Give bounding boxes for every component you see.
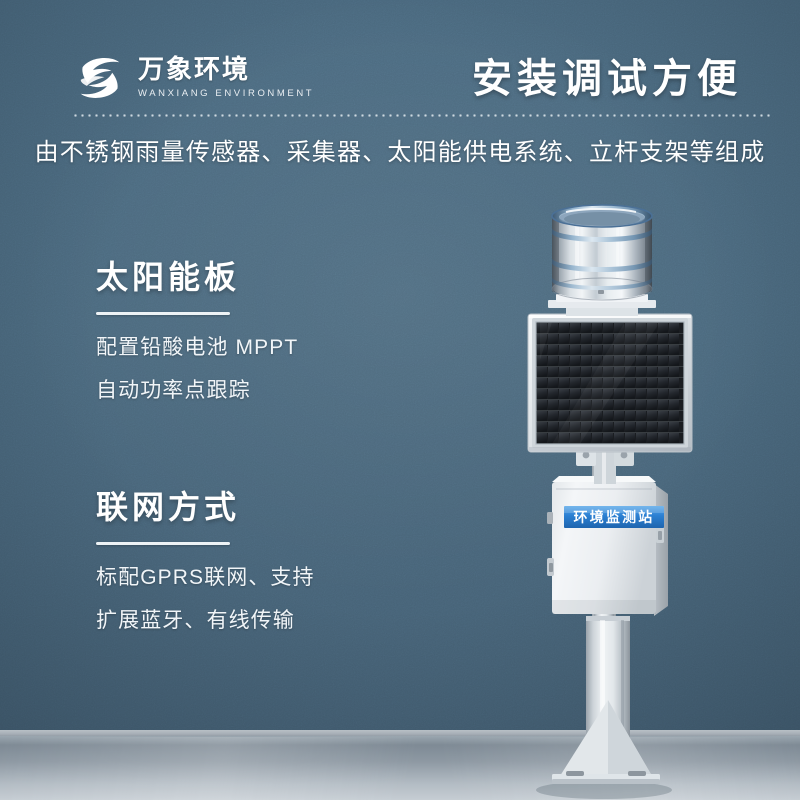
floor-sheen [0,737,800,800]
brand-logo: 万象环境 WANXIANG ENVIRONMENT [72,50,314,106]
dotted-divider [72,114,772,117]
poster-title: 安装调试方便 [472,46,742,104]
feature-line: 标配GPRS联网、支持 [96,567,315,588]
feature-title: 联网方式 [96,482,315,528]
feature-block-solar-panel: 太阳能板 配置铅酸电池 MPPT 自动功率点跟踪 [96,252,298,401]
product-poster: 环境监测站 [0,0,800,800]
swirl-globe-logo-icon [72,50,128,106]
brand-text: 万象环境 WANXIANG ENVIRONMENT [138,56,314,100]
feature-line: 配置铅酸电池 MPPT [96,337,298,358]
feature-divider [96,312,230,315]
feature-divider [96,542,230,545]
poster-header: 万象环境 WANXIANG ENVIRONMENT 安装调试方便 [0,0,800,120]
brand-name-cn: 万象环境 [138,56,314,83]
feature-title: 太阳能板 [96,252,298,298]
poster-subtitle: 由不锈钢雨量传感器、采集器、太阳能供电系统、立杆支架等组成 [0,132,800,167]
feature-line: 自动功率点跟踪 [96,380,298,401]
brand-name-en: WANXIANG ENVIRONMENT [138,87,314,100]
feature-line: 扩展蓝牙、有线传输 [96,610,315,631]
feature-block-network: 联网方式 标配GPRS联网、支持 扩展蓝牙、有线传输 [96,482,315,631]
